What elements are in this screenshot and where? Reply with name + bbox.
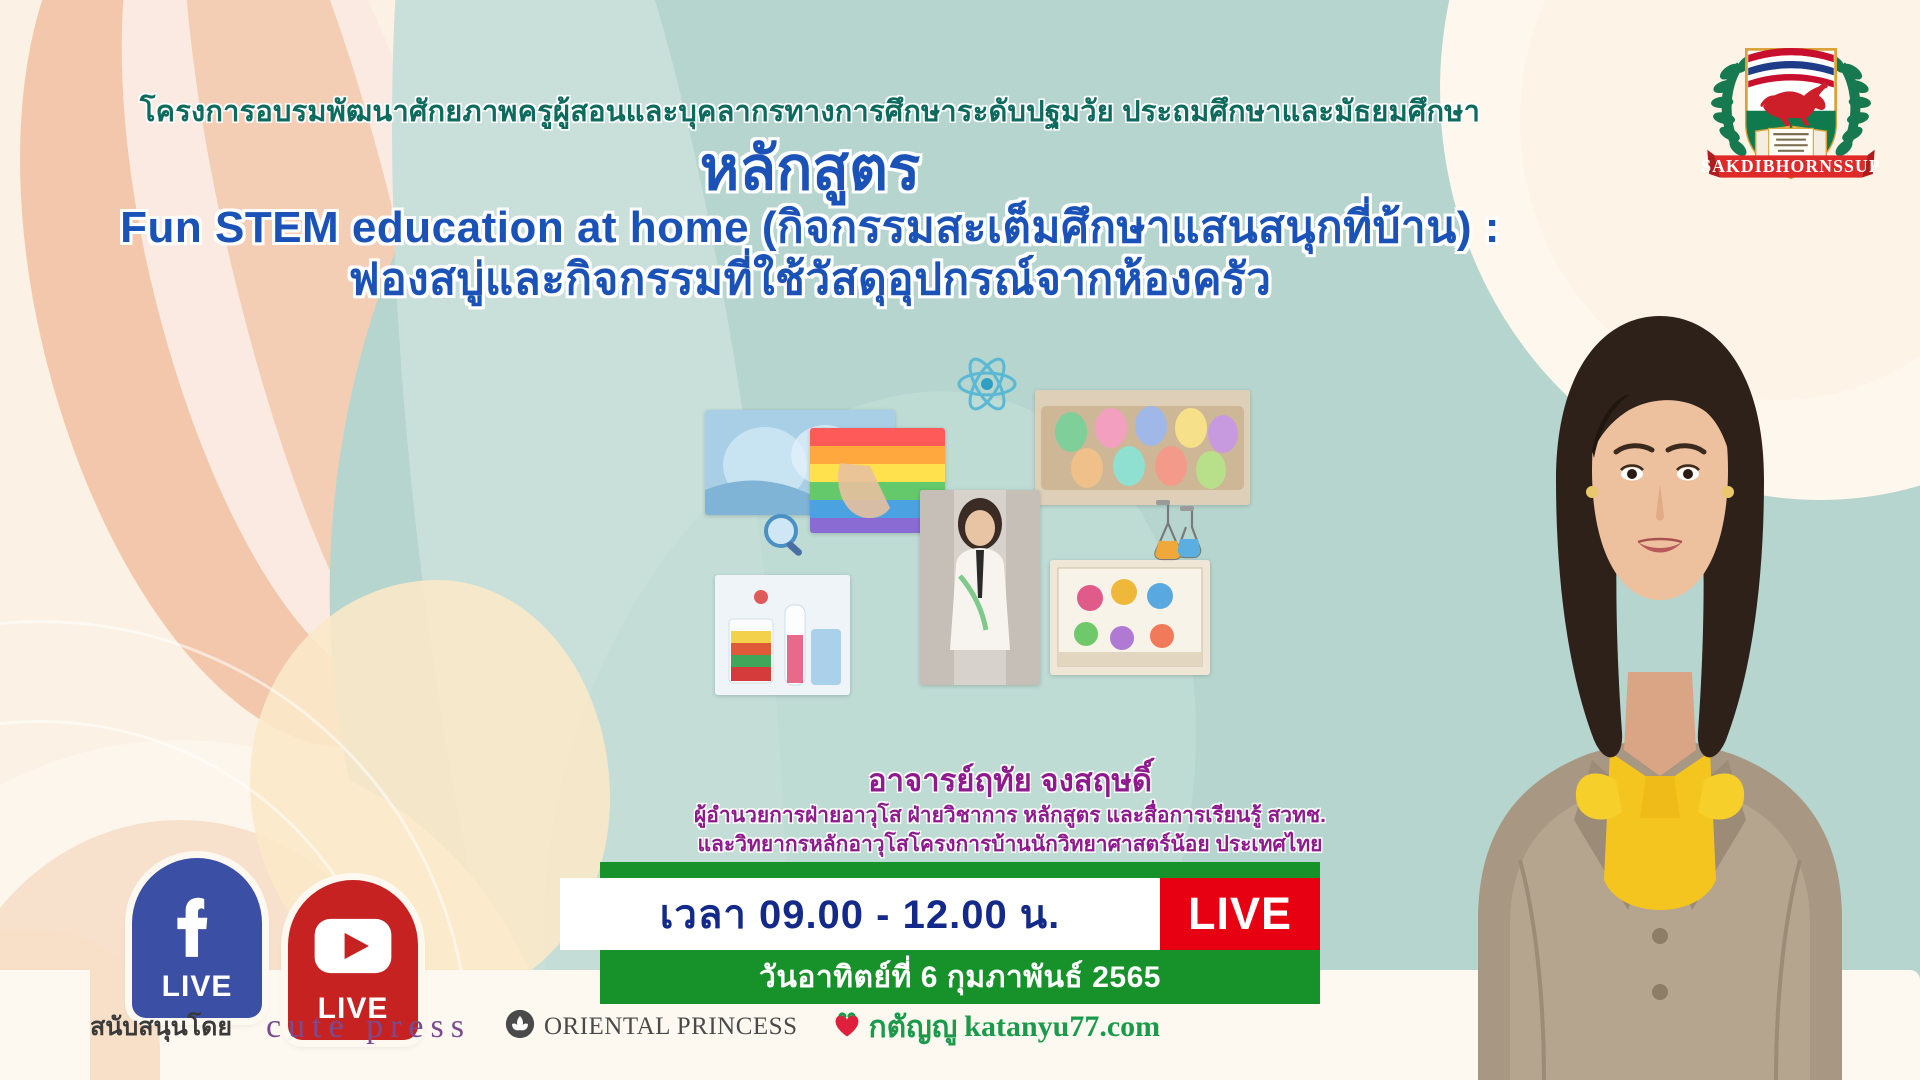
atom-icon [955, 352, 1019, 416]
background-bottom-corner-cream [0, 970, 90, 1080]
school-crest-logo: SAKDIBHORNSSUP [1698, 14, 1884, 200]
photo-colored-eggs [1035, 390, 1250, 505]
magnifier-icon [760, 510, 812, 562]
photo-layered-liquids [715, 575, 850, 695]
sponsor-bar: สนับสนุนโดย cute press ORIENTAL PRINCESS [90, 990, 1160, 1064]
oriental-princess-label: ORIENTAL PRINCESS [544, 1013, 798, 1041]
sponsor-katanyu: กตัญญู katanyu77.com [832, 1004, 1161, 1051]
speaker-info: อาจารย์ฤทัย จงสฤษดิ์ ผู้อำนวยการฝ่ายอาวุ… [560, 760, 1460, 860]
photo-color-mixing-tray [1050, 560, 1210, 675]
katanyu-thai-label: กตัญญู [869, 1004, 958, 1051]
speaker-role-line-1: ผู้อำนวยการฝ่ายอาวุโส ฝ่ายวิชาการ หลักสู… [560, 802, 1460, 831]
sponsor-oriental-princess: ORIENTAL PRINCESS [505, 1009, 798, 1046]
sponsor-cute-press: cute press [266, 1008, 471, 1046]
photo-presenter-portrait [920, 490, 1040, 685]
event-time: เวลา 09.00 - 12.00 น. [560, 878, 1160, 950]
speaker-role-line-2: และวิทยากรหลักอาวุโสโครงการบ้านนักวิทยาศ… [560, 831, 1460, 860]
sponsor-label: สนับสนุนโดย [90, 1007, 232, 1047]
poster-canvas: โครงการอบรมพัฒนาศักยภาพครูผู้สอนและบุคลา… [0, 0, 1920, 1080]
speaker-name: อาจารย์ฤทัย จงสฤษดิ์ [560, 760, 1460, 802]
facebook-icon [172, 895, 222, 964]
header-subtitle: โครงการอบรมพัฒนาศักยภาพครูผู้สอนและบุคลา… [0, 88, 1620, 134]
heart-icon [832, 1011, 862, 1044]
youtube-icon [312, 917, 394, 980]
flask-icon [1140, 495, 1210, 565]
presenter-photo [1360, 220, 1920, 1080]
live-badge: LIVE [1160, 878, 1320, 950]
activity-photo-collage [690, 390, 1250, 690]
katanyu-url: katanyu77.com [964, 1010, 1160, 1044]
schedule-banner: เวลา 09.00 - 12.00 น. LIVE วันอาทิตย์ที่… [560, 862, 1320, 1002]
oriental-princess-icon [505, 1009, 535, 1046]
svg-text:SAKDIBHORNSSUP: SAKDIBHORNSSUP [1701, 156, 1880, 176]
title-line-1: หลักสูตร [0, 135, 1620, 202]
